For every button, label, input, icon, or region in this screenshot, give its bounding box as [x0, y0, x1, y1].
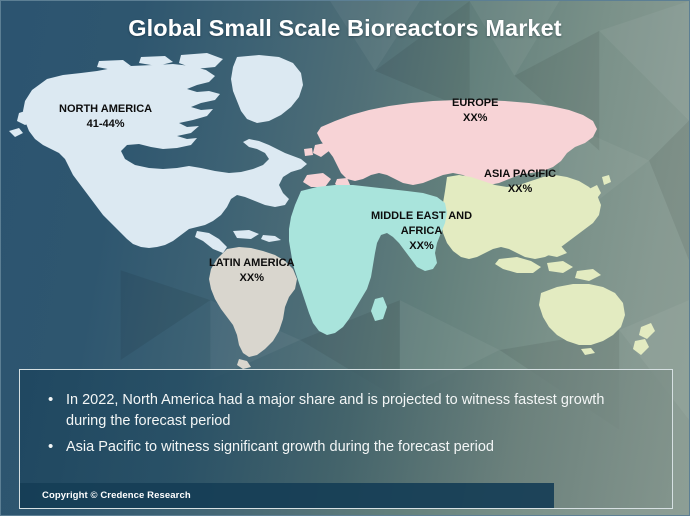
map-region-north-america: [9, 53, 307, 253]
region-label-europe: EUROPE XX%: [452, 96, 498, 126]
region-name: ASIA PACIFIC: [484, 167, 556, 182]
region-value: XX%: [452, 111, 498, 126]
region-name: MIDDLE EAST AND: [371, 209, 472, 224]
world-map: [1, 35, 690, 371]
region-name: EUROPE: [452, 96, 498, 111]
region-label-latin-america: LATIN AMERICA XX%: [209, 256, 295, 286]
region-label-middle-east-africa: MIDDLE EAST AND AFRICA XX%: [371, 209, 472, 254]
region-value: XX%: [484, 182, 556, 197]
map-region-asia-pacific: [441, 175, 655, 355]
page-title: Global Small Scale Bioreactors Market: [1, 15, 689, 42]
region-value: XX%: [371, 239, 472, 254]
copyright-text: Copyright © Credence Research: [20, 490, 191, 501]
region-name: LATIN AMERICA: [209, 256, 295, 271]
list-item: Asia Pacific to witness significant grow…: [46, 437, 646, 458]
copyright-bar: Copyright © Credence Research: [20, 483, 554, 508]
map-region-middle-east-africa: [289, 185, 447, 335]
infographic-canvas: Global Small Scale Bioreactors Market NO…: [0, 0, 690, 516]
region-value: XX%: [209, 271, 295, 286]
region-name: NORTH AMERICA: [59, 102, 152, 117]
list-item: In 2022, North America had a major share…: [46, 390, 646, 432]
region-label-north-america: NORTH AMERICA 41-44%: [59, 102, 152, 132]
region-value: 41-44%: [59, 117, 152, 132]
insights-bullet-list: In 2022, North America had a major share…: [20, 370, 672, 458]
region-name-line2: AFRICA: [371, 224, 472, 239]
region-label-asia-pacific: ASIA PACIFIC XX%: [484, 167, 556, 197]
insights-callout-box: In 2022, North America had a major share…: [19, 369, 673, 509]
